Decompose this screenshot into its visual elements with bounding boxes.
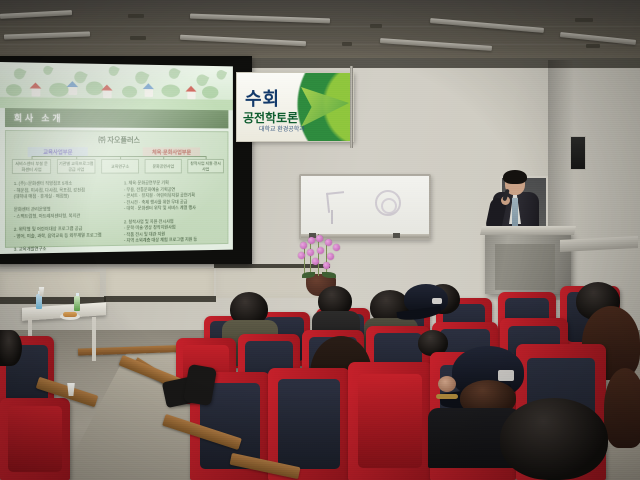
orchid-bloom — [312, 258, 319, 265]
orchid-bloom — [317, 247, 324, 254]
baseball-cap — [404, 284, 448, 314]
wall-banner: 수회 공전학토론 대학교 환경공학과 — [236, 72, 354, 142]
presenter-hair — [503, 170, 527, 184]
seat-pad — [358, 374, 422, 468]
banner-line3: 대학교 환경공학과 — [259, 124, 305, 133]
slide-bullets-right: 1. 체육·문화공연부문 기획 - 무용, 전통문화예술 기획공연 - 콘서트 … — [124, 180, 224, 245]
banner-pole — [350, 66, 353, 148]
ceiling-light — [4, 32, 90, 40]
leaf-icon — [167, 66, 181, 80]
ceiling-vent — [130, 36, 146, 40]
ceiling-light — [0, 10, 72, 19]
slide-title: 회사 소개 — [14, 111, 63, 124]
orchid-bloom — [316, 235, 323, 242]
water-bottle — [36, 294, 42, 309]
seat — [0, 398, 70, 480]
ceiling — [0, 0, 640, 62]
wall-baseboard — [104, 296, 216, 302]
ceiling-vent — [370, 24, 382, 28]
person-head — [500, 398, 608, 480]
ceiling-vent — [342, 42, 352, 46]
presenter-tie — [512, 198, 518, 226]
person-hair — [604, 368, 640, 448]
leaf-icon — [107, 64, 120, 77]
orchid-bloom — [298, 252, 305, 259]
person-hand — [438, 376, 456, 392]
house-icon — [69, 86, 78, 95]
projection-screen-frame: 회사 소개 ㈜ 자오플러스 교육사업부문 체육·문화사업부문 서비스센터 부설 … — [0, 56, 252, 264]
orchid-bloom — [333, 244, 340, 251]
whiteboard — [299, 174, 431, 240]
podium — [485, 232, 571, 294]
leaf-icon — [215, 68, 227, 81]
house-icon — [103, 89, 112, 98]
ceiling-light — [190, 14, 330, 24]
ceiling-vent — [575, 18, 593, 22]
leaf-icon — [42, 64, 54, 76]
audience-person-hand — [438, 376, 456, 392]
wall-panel — [0, 272, 100, 300]
org-box: 서비스센터 부설 문화센터 사업 — [12, 159, 51, 174]
whiteboard-clip — [393, 233, 400, 238]
seat — [348, 362, 432, 480]
house-icon — [187, 91, 195, 100]
ceiling-vent — [128, 14, 144, 18]
whiteboard-marking — [331, 210, 345, 224]
leaf-icon — [12, 66, 26, 81]
cap-logo — [498, 370, 514, 381]
seat-pad — [8, 406, 61, 472]
orchid-bloom — [308, 237, 315, 244]
slide-body: ㈜ 자오플러스 교육사업부문 체육·문화사업부문 서비스센터 부설 문화센터 사… — [5, 130, 228, 248]
cap-logo — [432, 298, 442, 305]
orchid-bloom — [300, 242, 307, 249]
wall-speaker — [570, 136, 586, 170]
slide-bullets-left: 1. (주)○문화센터 직영점포 5개소 - 해운점, 미사점, 다사점, 목포… — [14, 180, 118, 254]
slide-subtitle: ㈜ 자오플러스 — [6, 134, 228, 146]
podium-front — [495, 244, 555, 290]
org-box: 문화공연사업 — [145, 159, 182, 174]
photo-scene: 회사 소개 ㈜ 자오플러스 교육사업부문 체육·문화사업부문 서비스센터 부설 … — [0, 0, 640, 480]
orchid-bloom — [323, 262, 330, 269]
bracelet — [436, 394, 458, 399]
orchid-bloom — [327, 253, 334, 260]
table-leg — [92, 317, 96, 361]
orchid-bloom — [325, 239, 332, 246]
orchid-leaf — [322, 272, 336, 278]
org-box: 교육연구소 — [101, 159, 139, 174]
person-head — [0, 330, 22, 366]
podium-top — [480, 226, 576, 235]
orchid-bloom — [307, 249, 314, 256]
green-bottle — [74, 296, 80, 311]
slide-title-bar: 회사 소개 — [5, 108, 228, 128]
slide-header-art — [0, 62, 233, 110]
ceiling-vent — [586, 44, 600, 48]
projection-screen: 회사 소개 ㈜ 자오플러스 교육사업부문 체육·문화사업부문 서비스센터 부설 … — [0, 62, 233, 254]
seat-pad — [278, 379, 340, 469]
house-icon — [32, 87, 41, 96]
whiteboard-marking — [381, 198, 397, 214]
house-icon — [145, 88, 153, 97]
org-box: 기관별 교육프로그램 공급 사업 — [57, 159, 96, 174]
org-box: 창작사업 지원·전시 사업 — [187, 159, 224, 173]
bread — [63, 312, 77, 317]
banner-line1: 수회 — [245, 85, 280, 111]
